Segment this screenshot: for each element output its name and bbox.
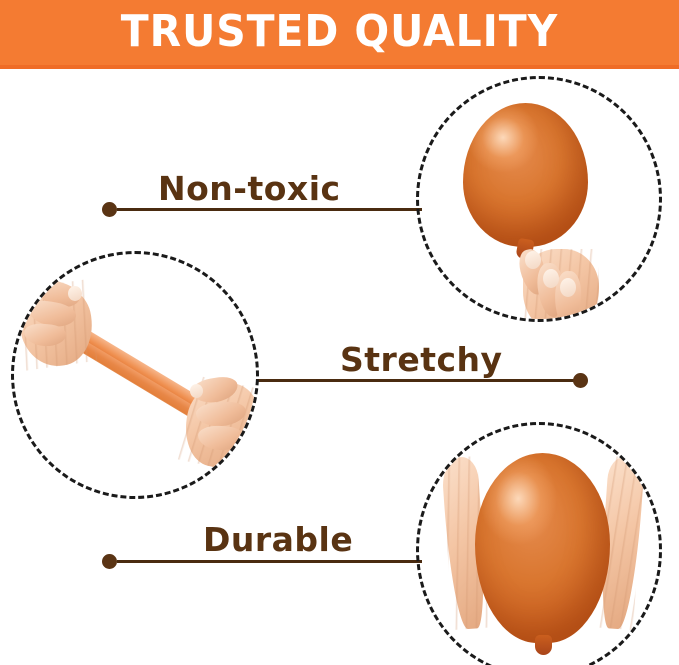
connector-line-non-toxic [117, 208, 422, 211]
page-title: TRUSTED QUALITY [24, 6, 655, 58]
fingernail-shape [190, 384, 203, 398]
photo-durable [419, 425, 659, 665]
balloon-shape [463, 103, 588, 247]
connector-dot-non-toxic [102, 202, 117, 217]
photo-stretchy [14, 254, 256, 496]
feature-label-stretchy: Stretchy [340, 341, 503, 379]
feature-label-durable: Durable [203, 521, 353, 559]
header-banner: TRUSTED QUALITY [0, 0, 679, 69]
photo-circle-durable [416, 422, 662, 665]
balloon-shape [475, 453, 610, 643]
photo-non-toxic [419, 79, 659, 319]
fingernail-shape [543, 269, 559, 288]
connector-line-durable [117, 560, 422, 563]
feature-label-non-toxic: Non-toxic [158, 170, 341, 208]
connector-dot-durable [102, 554, 117, 569]
connector-line-stretchy [256, 379, 581, 382]
fingernail-shape [560, 278, 576, 297]
connector-dot-stretchy [573, 373, 588, 388]
fingernail-shape [68, 286, 82, 301]
photo-circle-stretchy [11, 251, 259, 499]
balloon-neck-shape [535, 635, 552, 655]
fingernail-shape [525, 251, 541, 269]
infographic-page: TRUSTED QUALITY Non-toxic Stretchy [0, 0, 679, 665]
photo-circle-non-toxic [416, 76, 662, 322]
